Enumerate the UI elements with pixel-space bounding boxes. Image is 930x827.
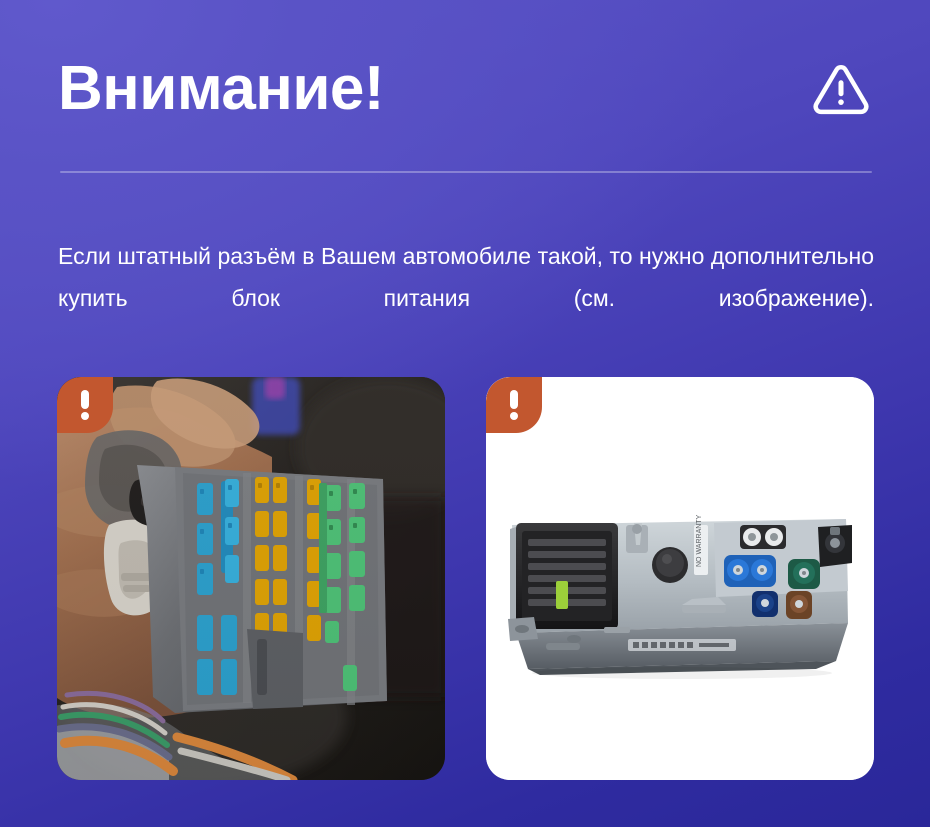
header: Внимание! [58,50,872,128]
power-supply-photo: NO WARRANTY [486,377,874,780]
notice-text: Если штатный разъём в Вашем автомобиле т… [58,235,874,361]
exclamation-icon [510,390,518,420]
svg-text:NO WARRANTY: NO WARRANTY [696,514,703,567]
exclamation-icon [81,390,89,420]
image-cards: NO WARRANTY [57,377,874,780]
warning-triangle-icon [810,58,872,120]
page-title: Внимание! [58,53,384,125]
warning-badge [57,377,113,433]
warning-notice-page: Внимание! Если штатный разъём в Вашем ав… [0,0,930,827]
power-supply-photo-card[interactable]: NO WARRANTY [486,377,874,780]
header-divider [60,171,872,173]
warning-badge [486,377,542,433]
connector-photo [57,377,445,780]
connector-photo-card[interactable] [57,377,445,780]
